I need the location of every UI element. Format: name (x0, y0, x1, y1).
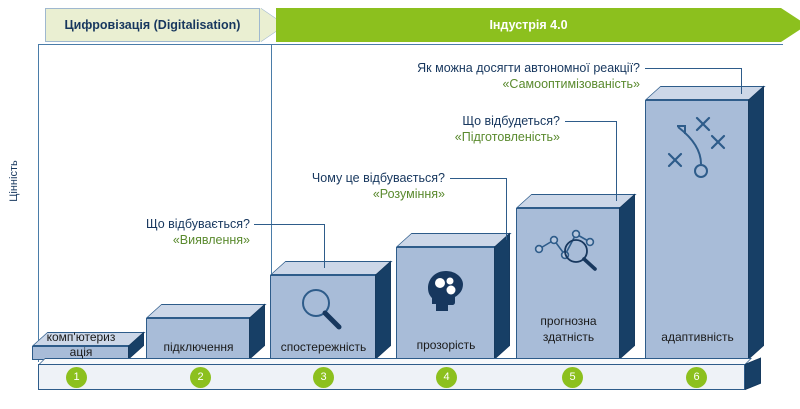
callout-readiness: Що відбудеться? «Підготовленість» (400, 113, 560, 145)
callout-question: Що відбувається? (85, 216, 250, 232)
base-platform-side (745, 358, 761, 390)
bar-side-face (375, 261, 391, 360)
bar-label-line2: здатність (516, 330, 621, 345)
bar-top-face (645, 86, 766, 100)
callout-answer: «Виявлення» (85, 232, 250, 248)
callout-answer: «Самооптимізованість» (370, 76, 640, 92)
bar-top-face (516, 194, 637, 208)
bar-label-line1: прогнозна (516, 314, 621, 329)
strategy-icon (667, 116, 729, 186)
step-badge-4[interactable]: 4 (436, 367, 457, 388)
step-badge-6[interactable]: 6 (686, 367, 707, 388)
bar-step-1[interactable]: комп'ютериз ація (32, 332, 130, 360)
banner-arrow-tip (781, 8, 800, 42)
bar-label-line1: спостережність (270, 340, 377, 355)
leader-line-detection-h (254, 224, 325, 225)
head-gears-icon (422, 267, 470, 315)
bar-side-face (748, 86, 764, 360)
step-badge-5[interactable]: 5 (562, 367, 583, 388)
y-axis-label: Цінність (8, 141, 20, 221)
bar-label-line1: прозорість (396, 338, 496, 353)
bar-side-face (619, 194, 635, 360)
callout-understanding: Чому це відбувається? «Розуміння» (265, 170, 445, 202)
step-badge-1[interactable]: 1 (66, 367, 87, 388)
leader-line-selfopt-v (741, 68, 742, 94)
step-badge-2[interactable]: 2 (190, 367, 211, 388)
bar-step-2[interactable]: підключення (146, 304, 251, 360)
magnifier-icon (297, 287, 347, 331)
bar-top-face (146, 304, 267, 318)
bar-step-6[interactable]: адаптивність (645, 86, 750, 360)
phase-banner-digitalisation: Цифровізація (Digitalisation) (45, 8, 285, 42)
bar-side-face (494, 233, 510, 360)
bar-top-face (270, 261, 393, 275)
callout-answer: «Розуміння» (265, 186, 445, 202)
callout-detection: Що відбувається? «Виявлення» (85, 216, 250, 248)
banner-label-industry40: Індустрія 4.0 (276, 8, 781, 42)
leader-line-readiness-v (616, 121, 617, 201)
bar-step-4[interactable]: прозорість (396, 233, 496, 360)
leader-line-detection-v (324, 224, 325, 268)
bar-label-line1: комп'ютериз (32, 330, 130, 345)
bar-top-face (396, 233, 512, 247)
bar-label-line2: ація (32, 345, 130, 360)
callout-question: Чому це відбувається? (265, 170, 445, 186)
callout-question: Що відбудеться? (400, 113, 560, 129)
base-platform (38, 364, 745, 390)
leader-line-understanding-v (506, 178, 507, 240)
bar-step-5[interactable]: прогнозна здатність (516, 194, 621, 360)
leader-line-readiness-h (565, 121, 617, 122)
leader-line-understanding-h (450, 178, 507, 179)
leader-line-selfopt-h (645, 68, 742, 69)
callout-question: Як можна досягти автономної реакції? (370, 60, 640, 76)
trend-magnifier-icon (532, 220, 606, 274)
callout-answer: «Підготовленість» (400, 129, 560, 145)
bar-label-line1: адаптивність (645, 330, 750, 345)
bar-step-3[interactable]: спостережність (270, 261, 377, 360)
step-badge-3[interactable]: 3 (313, 367, 334, 388)
callout-selfoptimisation: Як можна досягти автономної реакції? «Са… (370, 60, 640, 92)
infographic-canvas: Цифровізація (Digitalisation) Індустрія … (0, 0, 800, 409)
phase-banner-industry40: Індустрія 4.0 (276, 8, 800, 42)
bar-label-line1: підключення (146, 340, 251, 355)
banner-label-digitalisation: Цифровізація (Digitalisation) (45, 8, 260, 42)
